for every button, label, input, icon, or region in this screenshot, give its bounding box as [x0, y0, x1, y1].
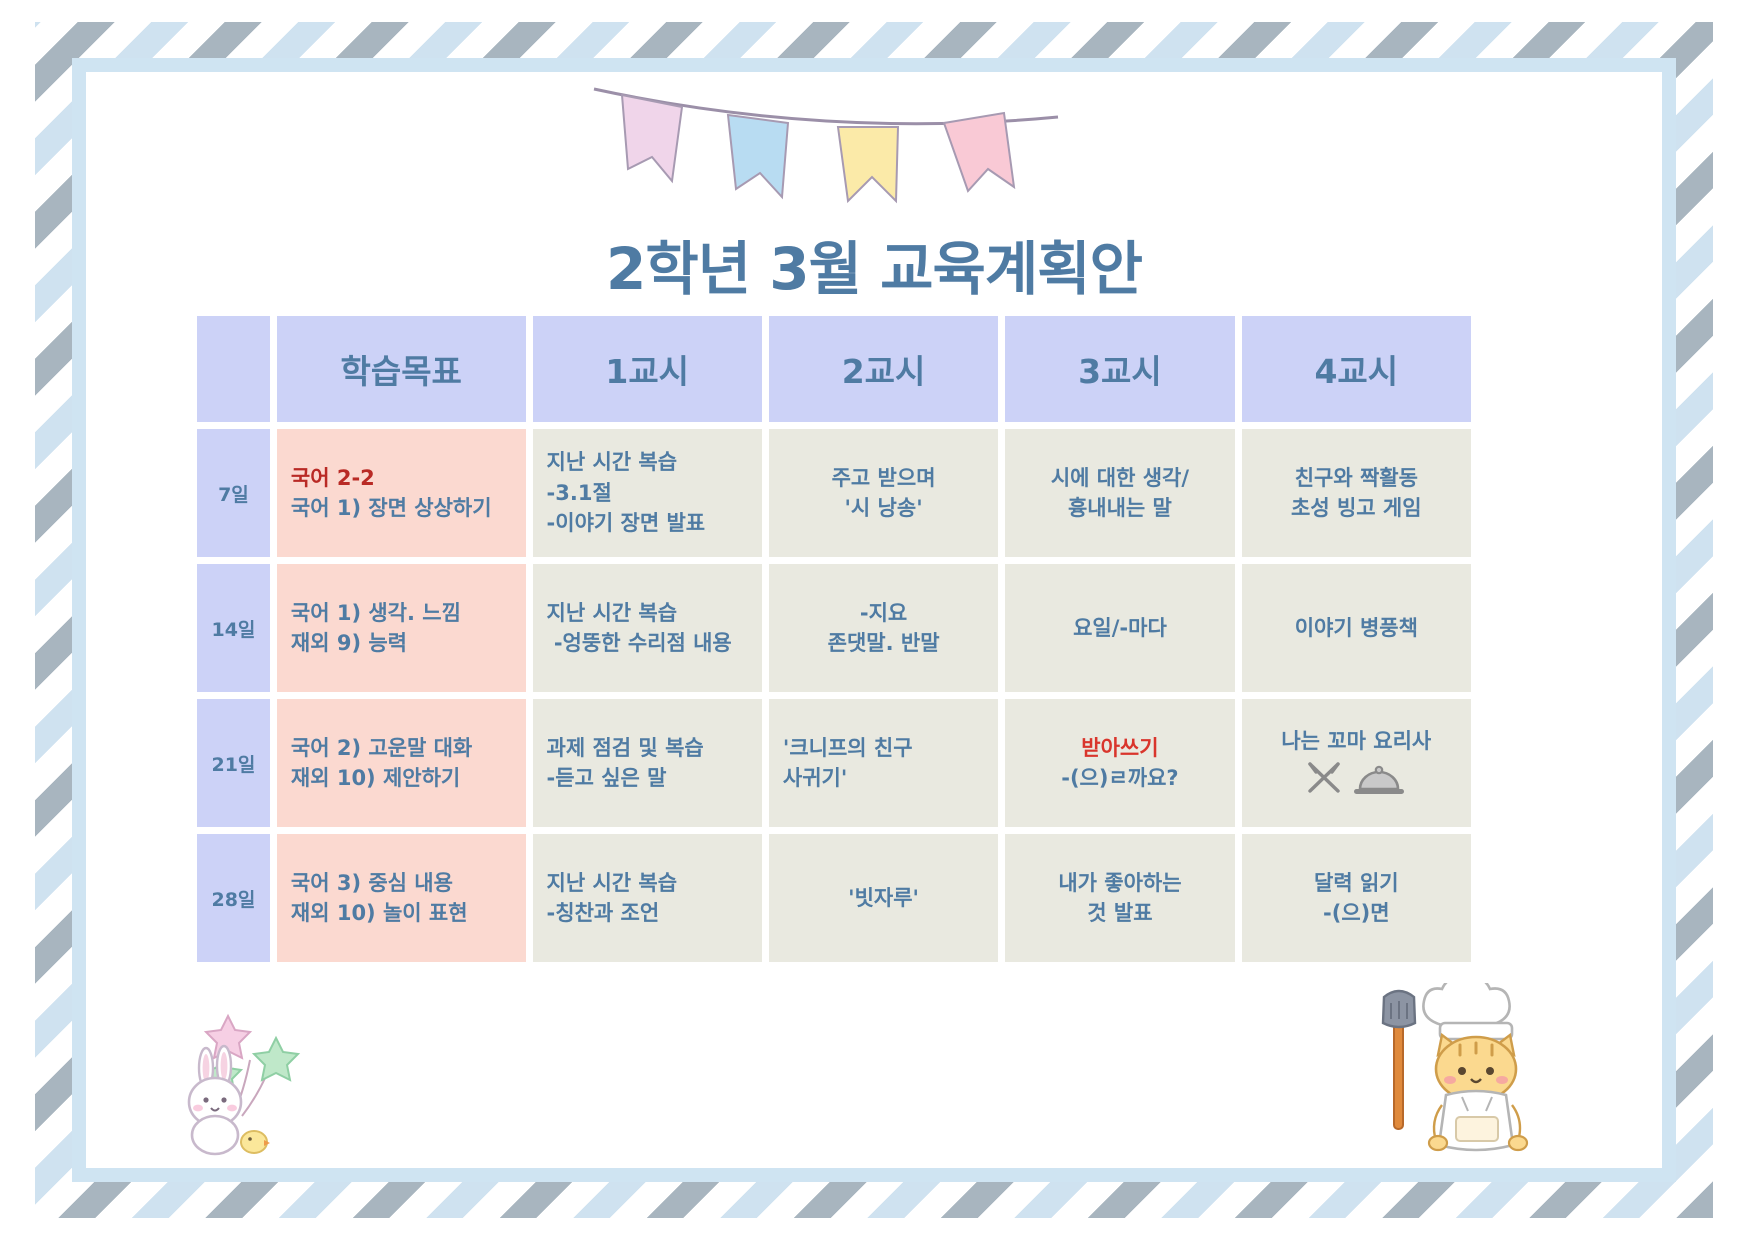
- goal-line-2: 재외 9) 능력: [291, 628, 512, 658]
- period-line-2: 존댓말. 반말: [783, 628, 984, 658]
- period-line-1: -지요: [783, 598, 984, 628]
- row-period-1: 지난 시간 복습 -엉뚱한 수리점 내용: [533, 564, 762, 692]
- period-line-2: 흉내내는 말: [1019, 493, 1220, 523]
- period-line-1: '크니프의 친구: [783, 733, 984, 763]
- row-date: 28일: [197, 834, 270, 962]
- rabbit-with-stars-illustration: [176, 998, 326, 1158]
- period-line-1: 요일/-마다: [1019, 613, 1220, 643]
- period-line-1: 지난 시간 복습: [547, 598, 748, 628]
- poster-canvas: 2학년 3월 교육계획안 학습목표 1교시 2교시 3교시 4교시: [0, 0, 1748, 1240]
- period-line-1: 달력 읽기: [1256, 868, 1457, 898]
- education-plan-table: 학습목표 1교시 2교시 3교시 4교시 7일 국어 2-2 국어 1) 장면 …: [190, 309, 1478, 969]
- table-row: 14일 국어 1) 생각. 느낌 재외 9) 능력 지난 시간 복습 -엉뚱한 …: [197, 564, 1471, 692]
- period-line-2: 초성 빙고 게임: [1256, 493, 1457, 523]
- header-period-3: 3교시: [1005, 316, 1234, 422]
- row-goal: 국어 3) 중심 내용 재외 10) 놀이 표현: [277, 834, 526, 962]
- row-period-1: 지난 시간 복습 -칭찬과 조언: [533, 834, 762, 962]
- period-line-3: -이야기 장면 발표: [547, 508, 748, 538]
- period-line-1: 지난 시간 복습: [547, 868, 748, 898]
- header-period-2: 2교시: [769, 316, 998, 422]
- table-row: 28일 국어 3) 중심 내용 재외 10) 놀이 표현 지난 시간 복습 -칭…: [197, 834, 1471, 962]
- period-line-1: 주고 받으며: [783, 463, 984, 493]
- header-date: [197, 316, 270, 422]
- period-line-2: -칭찬과 조언: [547, 898, 748, 928]
- period-line-2: -엉뚱한 수리점 내용: [547, 628, 748, 658]
- table-row: 21일 국어 2) 고운말 대화 재외 10) 제안하기 과제 점검 및 복습 …: [197, 699, 1471, 827]
- period-line-1: 시에 대한 생각/: [1019, 463, 1220, 493]
- goal-line-1: 국어 2-2: [291, 463, 512, 493]
- goal-line-2: 국어 1) 장면 상상하기: [291, 493, 512, 523]
- period-line-1: 이야기 병풍책: [1256, 613, 1457, 643]
- table-header-row: 학습목표 1교시 2교시 3교시 4교시: [197, 316, 1471, 422]
- period-line-2: '시 낭송': [783, 493, 984, 523]
- paper-surface: 2학년 3월 교육계획안 학습목표 1교시 2교시 3교시 4교시: [86, 72, 1662, 1168]
- table-row: 7일 국어 2-2 국어 1) 장면 상상하기 지난 시간 복습 -3.1절 -…: [197, 429, 1471, 557]
- row-period-3: 내가 좋아하는 것 발표: [1005, 834, 1234, 962]
- goal-line-1: 국어 2) 고운말 대화: [291, 733, 512, 763]
- row-period-3: 시에 대한 생각/ 흉내내는 말: [1005, 429, 1234, 557]
- row-period-4: 달력 읽기 -(으)면: [1242, 834, 1471, 962]
- header-period-1: 1교시: [533, 316, 762, 422]
- period-line-1: 나는 꼬마 요리사: [1256, 726, 1457, 756]
- period-line-2: -3.1절: [547, 478, 748, 508]
- period-line-2: 것 발표: [1019, 898, 1220, 928]
- period-line-1: '빗자루': [783, 883, 984, 913]
- row-date: 14일: [197, 564, 270, 692]
- row-period-1: 과제 점검 및 복습 -듣고 싶은 말: [533, 699, 762, 827]
- row-date: 7일: [197, 429, 270, 557]
- row-goal: 국어 2) 고운말 대화 재외 10) 제안하기: [277, 699, 526, 827]
- goal-line-2: 재외 10) 제안하기: [291, 763, 512, 793]
- period-line-2: -(으)면: [1256, 898, 1457, 928]
- goal-line-1: 국어 1) 생각. 느낌: [291, 598, 512, 628]
- period-line-1: 지난 시간 복습: [547, 447, 748, 477]
- row-period-4: 나는 꼬마 요리사: [1242, 699, 1471, 827]
- row-goal: 국어 1) 생각. 느낌 재외 9) 능력: [277, 564, 526, 692]
- row-period-2: '크니프의 친구 사귀기': [769, 699, 998, 827]
- cooking-utensils-icon: [1256, 762, 1457, 800]
- header-period-4: 4교시: [1242, 316, 1471, 422]
- row-period-2: -지요 존댓말. 반말: [769, 564, 998, 692]
- chef-cat-illustration: [1372, 983, 1572, 1158]
- row-period-4: 이야기 병풍책: [1242, 564, 1471, 692]
- goal-line-2: 재외 10) 놀이 표현: [291, 898, 512, 928]
- goal-line-1: 국어 3) 중심 내용: [291, 868, 512, 898]
- period-line-1: 내가 좋아하는: [1019, 868, 1220, 898]
- row-goal: 국어 2-2 국어 1) 장면 상상하기: [277, 429, 526, 557]
- row-period-3: 요일/-마다: [1005, 564, 1234, 692]
- row-period-3: 받아쓰기 -(으)ㄹ까요?: [1005, 699, 1234, 827]
- row-period-2: 주고 받으며 '시 낭송': [769, 429, 998, 557]
- period-line-2: 사귀기': [783, 763, 984, 793]
- row-period-4: 친구와 짝활동 초성 빙고 게임: [1242, 429, 1471, 557]
- period-line-2: -(으)ㄹ까요?: [1019, 763, 1220, 793]
- header-goal: 학습목표: [277, 316, 526, 422]
- period-line-1: 과제 점검 및 복습: [547, 733, 748, 763]
- row-date: 21일: [197, 699, 270, 827]
- period-line-2: -듣고 싶은 말: [547, 763, 748, 793]
- page-title: 2학년 3월 교육계획안: [86, 222, 1662, 306]
- period-line-1: 친구와 짝활동: [1256, 463, 1457, 493]
- period-line-1: 받아쓰기: [1019, 733, 1220, 763]
- row-period-2: '빗자루': [769, 834, 998, 962]
- row-period-1: 지난 시간 복습 -3.1절 -이야기 장면 발표: [533, 429, 762, 557]
- bunting-garland: [586, 77, 1066, 207]
